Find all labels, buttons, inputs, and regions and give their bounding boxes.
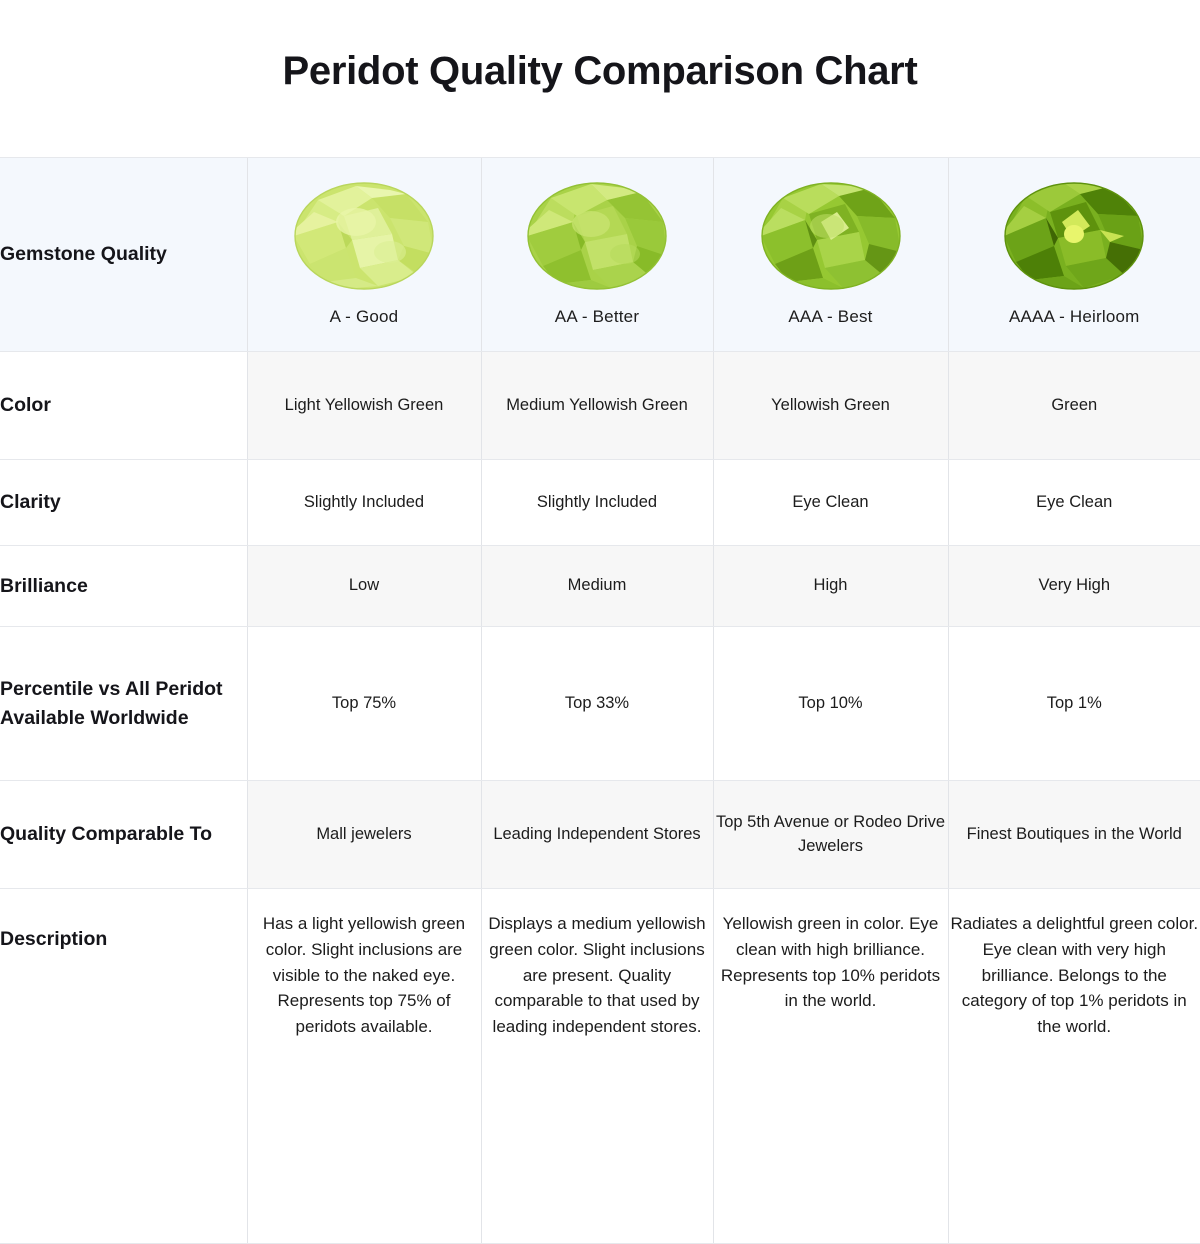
gem-cell-aaa: AAA - Best [713, 158, 948, 352]
table-row-quality-comparable: Quality Comparable To Mall jewelers Lead… [0, 781, 1200, 889]
table-row-gemstone-quality: Gemstone Quality [0, 158, 1200, 352]
cell-percentile-aaaa: Top 1% [948, 627, 1200, 781]
cell-clarity-aaa: Eye Clean [713, 460, 948, 546]
cell-description-a: Has a light yellowish green color. Sligh… [247, 889, 481, 1244]
peridot-gem-aaa-icon [761, 182, 901, 290]
cell-brilliance-a: Low [247, 546, 481, 627]
title-bar: Peridot Quality Comparison Chart [0, 0, 1200, 157]
gem-cell-a: A - Good [247, 158, 481, 352]
table-row-clarity: Clarity Slightly Included Slightly Inclu… [0, 460, 1200, 546]
table-row-color: Color Light Yellowish Green Medium Yello… [0, 352, 1200, 460]
table-row-percentile: Percentile vs All Peridot Available Worl… [0, 627, 1200, 781]
quality-comparison-table: Gemstone Quality [0, 157, 1200, 1244]
table-row-description: Description Has a light yellowish green … [0, 889, 1200, 1244]
row-label-quality-comparable: Quality Comparable To [0, 781, 247, 889]
gem-caption-a: A - Good [248, 307, 481, 327]
cell-quality-aaa: Top 5th Avenue or Rodeo Drive Jewelers [713, 781, 948, 889]
cell-color-aaa: Yellowish Green [713, 352, 948, 460]
peridot-comparison-page: Peridot Quality Comparison Chart Gemston… [0, 0, 1200, 1200]
gem-cell-aa: AA - Better [481, 158, 713, 352]
cell-color-a: Light Yellowish Green [247, 352, 481, 460]
row-label-brilliance: Brilliance [0, 546, 247, 627]
row-label-clarity: Clarity [0, 460, 247, 546]
cell-color-aa: Medium Yellowish Green [481, 352, 713, 460]
cell-description-aaa: Yellowish green in color. Eye clean with… [713, 889, 948, 1244]
cell-clarity-aaaa: Eye Clean [948, 460, 1200, 546]
cell-clarity-aa: Slightly Included [481, 460, 713, 546]
row-label-gemstone-quality: Gemstone Quality [0, 158, 247, 352]
cell-brilliance-aa: Medium [481, 546, 713, 627]
cell-percentile-a: Top 75% [247, 627, 481, 781]
cell-quality-aaaa: Finest Boutiques in the World [948, 781, 1200, 889]
peridot-gem-a-icon [294, 182, 434, 290]
peridot-gem-aaaa-icon [1004, 182, 1144, 290]
row-label-percentile: Percentile vs All Peridot Available Worl… [0, 627, 247, 781]
gem-cell-aaaa: AAAA - Heirloom [948, 158, 1200, 352]
cell-percentile-aaa: Top 10% [713, 627, 948, 781]
page-title: Peridot Quality Comparison Chart [283, 49, 918, 108]
gem-caption-aaaa: AAAA - Heirloom [949, 307, 1200, 327]
cell-quality-a: Mall jewelers [247, 781, 481, 889]
cell-description-aa: Displays a medium yellowish green color.… [481, 889, 713, 1244]
cell-color-aaaa: Green [948, 352, 1200, 460]
gem-caption-aaa: AAA - Best [714, 307, 948, 327]
cell-description-aaaa: Radiates a delightful green color. Eye c… [948, 889, 1200, 1244]
cell-percentile-aa: Top 33% [481, 627, 713, 781]
peridot-gem-aa-icon [527, 182, 667, 290]
row-label-description: Description [0, 889, 247, 1244]
cell-quality-aa: Leading Independent Stores [481, 781, 713, 889]
cell-brilliance-aaaa: Very High [948, 546, 1200, 627]
cell-brilliance-aaa: High [713, 546, 948, 627]
table-row-brilliance: Brilliance Low Medium High Very High [0, 546, 1200, 627]
row-label-color: Color [0, 352, 247, 460]
gem-caption-aa: AA - Better [482, 307, 713, 327]
cell-clarity-a: Slightly Included [247, 460, 481, 546]
